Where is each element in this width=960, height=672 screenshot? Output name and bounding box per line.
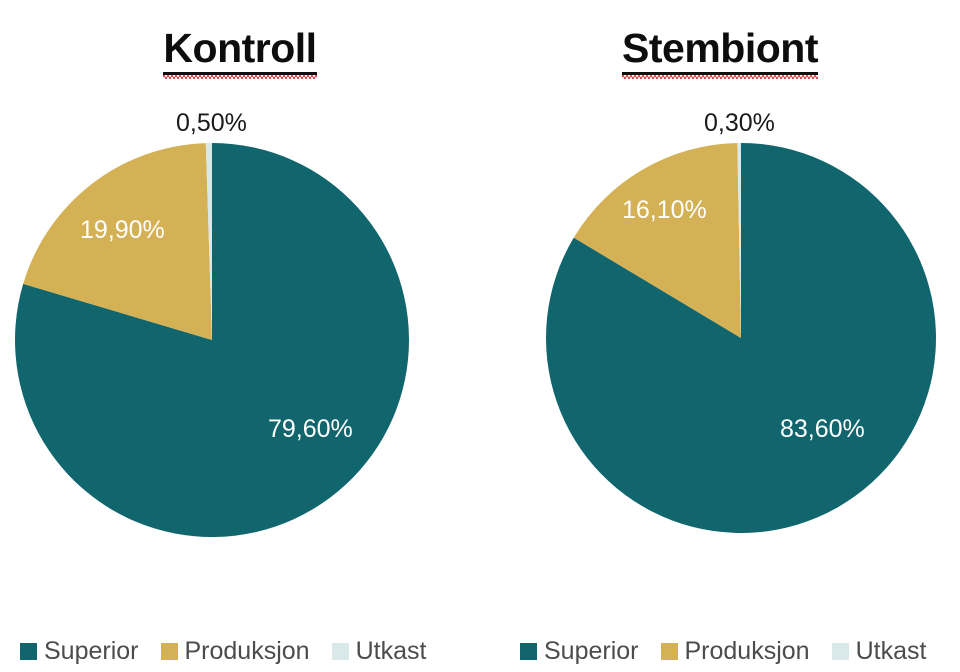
legend-swatch-produksjon-icon	[661, 643, 678, 660]
legend-item-produksjon[interactable]: Produksjon	[161, 639, 310, 664]
legend-swatch-superior-icon	[520, 643, 537, 660]
legend-swatch-superior-icon	[20, 643, 37, 660]
legend-kontroll: Superior Produksjon Utkast	[20, 639, 426, 664]
legend-item-utkast[interactable]: Utkast	[832, 639, 927, 664]
legend-item-produksjon[interactable]: Produksjon	[661, 639, 810, 664]
chart-title-kontroll-text: Kontroll	[163, 28, 316, 75]
legend-label-superior: Superior	[44, 639, 139, 664]
slide-canvas: Kontroll 0,50% 19,90% 79,60% Superior Pr	[0, 0, 960, 672]
legend-label-produksjon: Produksjon	[685, 639, 810, 664]
legend-label-produksjon: Produksjon	[185, 639, 310, 664]
pie-svg-stembiont	[545, 142, 937, 534]
chart-title-stembiont: Stembiont	[480, 28, 960, 75]
pie-label-utkast-stembiont: 0,30%	[704, 111, 775, 136]
pie-label-superior-kontroll: 79,60%	[268, 417, 353, 442]
pie-label-produksjon-stembiont: 16,10%	[622, 198, 707, 223]
legend-item-superior[interactable]: Superior	[20, 639, 139, 664]
chart-title-kontroll: Kontroll	[0, 28, 480, 75]
pie-label-produksjon-kontroll: 19,90%	[80, 218, 165, 243]
pie-label-superior-stembiont: 83,60%	[780, 417, 865, 442]
legend-item-superior[interactable]: Superior	[520, 639, 639, 664]
chart-title-stembiont-text: Stembiont	[622, 28, 818, 75]
legend-label-utkast: Utkast	[356, 639, 427, 664]
legend-item-utkast[interactable]: Utkast	[332, 639, 427, 664]
pie-svg-kontroll	[14, 142, 410, 538]
legend-label-utkast: Utkast	[856, 639, 927, 664]
pie-graphic-stembiont	[545, 142, 937, 534]
pie-graphic-kontroll	[14, 142, 410, 538]
legend-swatch-produksjon-icon	[161, 643, 178, 660]
pie-label-utkast-kontroll: 0,50%	[176, 111, 247, 136]
pie-chart-stembiont: Stembiont 0,30% 16,10% 83,60% Superior P	[480, 0, 960, 672]
legend-swatch-utkast-icon	[832, 643, 849, 660]
legend-swatch-utkast-icon	[332, 643, 349, 660]
pie-chart-kontroll: Kontroll 0,50% 19,90% 79,60% Superior Pr	[0, 0, 480, 672]
legend-stembiont: Superior Produksjon Utkast	[520, 639, 926, 664]
legend-label-superior: Superior	[544, 639, 639, 664]
